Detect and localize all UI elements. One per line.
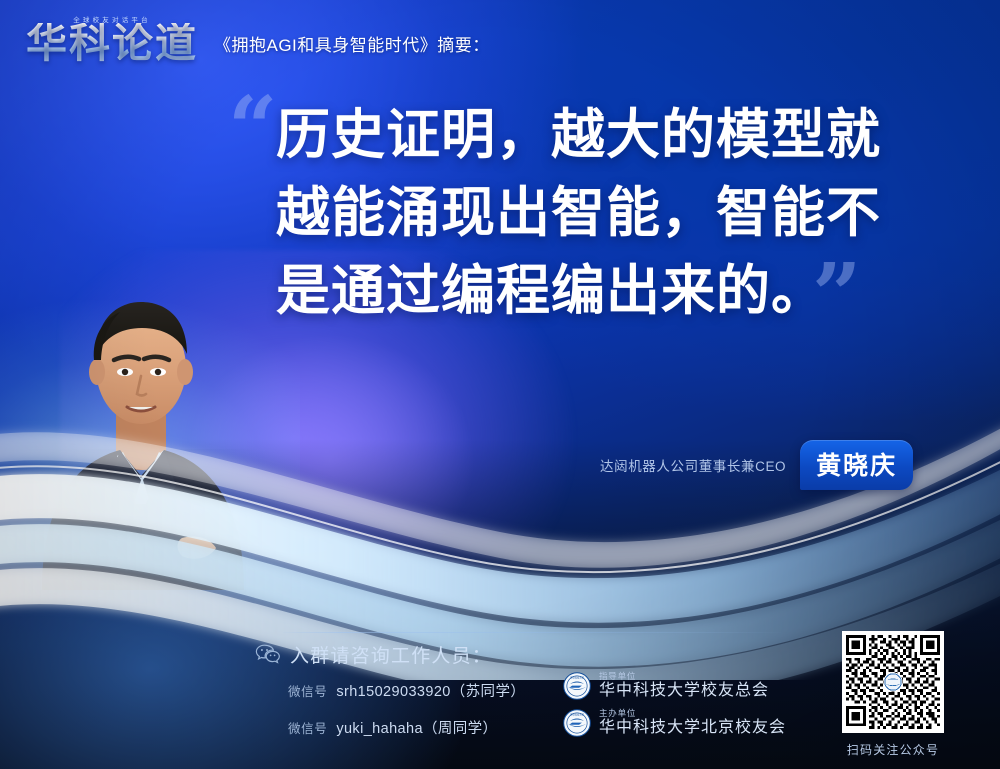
quote-text-block: 历史证明，越大的模型就 越能涌现出智能，智能不 是通过编程编出来的。 xyxy=(276,96,956,330)
qr-code-image[interactable] xyxy=(842,631,944,733)
wechat-label: 微信号 xyxy=(288,681,327,700)
wechat-contact-row: 微信号 yuki_hahaha（周同学） xyxy=(288,717,497,738)
organization-kind: 主办单位 xyxy=(599,709,786,718)
organization-text: 指导单位 华中科技大学校友总会 xyxy=(599,672,769,700)
organization-row: 华中科技大学 主办单位 华中科技大学北京校友会 xyxy=(563,709,786,737)
organization-text: 主办单位 华中科技大学北京校友会 xyxy=(599,709,786,737)
qr-caption: 扫码关注公众号 xyxy=(842,741,944,758)
svg-text:华中科技大学: 华中科技大学 xyxy=(570,713,585,717)
university-emblem-icon: 华中科技大学 xyxy=(563,709,591,737)
brand-logo: 全球校友对话平台 华科论道 xyxy=(26,14,198,64)
organization-kind: 指导单位 xyxy=(599,672,769,681)
header-subtitle: 《拥抱AGI和具身智能时代》摘要： xyxy=(214,31,490,64)
qr-code-section: 扫码关注公众号 xyxy=(842,631,944,758)
logo-wordmark: 华科论道 xyxy=(26,23,198,64)
qr-code-matrix xyxy=(846,635,940,729)
wechat-id: yuki_hahaha（周同学） xyxy=(336,717,497,738)
speaker-role: 达闼机器人公司董事长兼CEO xyxy=(600,455,786,475)
organization-row: 华中科技大学 指导单位 华中科技大学校友总会 xyxy=(563,672,769,700)
footer-divider xyxy=(283,632,781,633)
footer-title: 入群请咨询工作人员： xyxy=(290,641,492,668)
quote-line: 越能涌现出智能，智能不 xyxy=(276,174,956,252)
logo-tagline: 全球校友对话平台 xyxy=(73,14,151,24)
wechat-label: 微信号 xyxy=(288,718,327,737)
organization-name: 华中科技大学校友总会 xyxy=(599,683,769,700)
quote-line: 是通过编程编出来的。 xyxy=(276,252,956,330)
poster-canvas: 全球校友对话平台 华科论道 《拥抱AGI和具身智能时代》摘要： “ ” 历史证明… xyxy=(0,0,1000,769)
svg-text:华中科技大学: 华中科技大学 xyxy=(570,676,585,680)
organization-name: 华中科技大学北京校友会 xyxy=(599,720,786,737)
speaker-attribution: 达闼机器人公司董事长兼CEO 黄晓庆 xyxy=(600,440,913,490)
wechat-icon xyxy=(255,644,281,664)
quote-open-mark: “ xyxy=(228,86,277,172)
quote-line: 历史证明，越大的模型就 xyxy=(276,96,956,174)
university-emblem-icon: 华中科技大学 xyxy=(563,672,591,700)
speaker-name-badge: 黄晓庆 xyxy=(800,440,913,490)
wechat-id: srh15029033920（苏同学） xyxy=(336,680,525,701)
poster-header: 全球校友对话平台 华科论道 《拥抱AGI和具身智能时代》摘要： xyxy=(26,14,490,64)
wechat-contact-row: 微信号 srh15029033920（苏同学） xyxy=(288,680,525,701)
